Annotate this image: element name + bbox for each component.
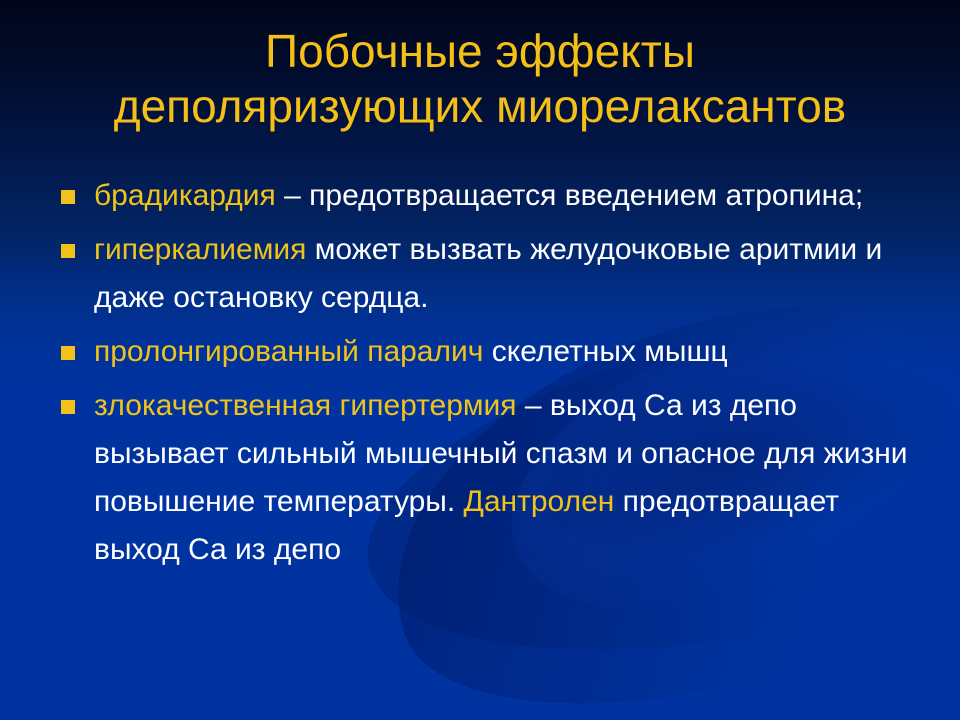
slide-canvas: Побочные эффекты деполяризующих миорелак… (0, 0, 960, 720)
highlighted-term: пролонгированный паралич (94, 335, 483, 368)
highlighted-term: брадикардия (94, 179, 276, 212)
list-item-text: брадикардия – предотвращается введением … (94, 172, 930, 220)
highlighted-term: злокачественная гипертермия (94, 389, 517, 422)
square-bullet-icon (61, 346, 75, 360)
list-item-text: гиперкалиемия может вызвать желудочковые… (94, 226, 930, 322)
square-bullet-icon (61, 400, 75, 414)
list-item: гиперкалиемия может вызвать желудочковые… (52, 226, 930, 322)
square-bullet-icon (61, 190, 75, 204)
list-item-body: скелетных мышц (483, 335, 727, 368)
highlighted-term: гиперкалиемия (94, 233, 306, 266)
highlighted-term-secondary: Дантролен (464, 485, 615, 518)
list-item-text: злокачественная гипертермия – выход Са и… (94, 382, 930, 574)
list-item: брадикардия – предотвращается введением … (52, 172, 930, 220)
list-item: злокачественная гипертермия – выход Са и… (52, 382, 930, 574)
slide-title: Побочные эффекты деполяризующих миорелак… (0, 24, 960, 134)
list-item-body: – предотвращается введением атропина; (276, 179, 863, 212)
list-item-text: пролонгированный паралич скелетных мышц (94, 328, 930, 376)
list-item: пролонгированный паралич скелетных мышц (52, 328, 930, 376)
bullet-list: брадикардия – предотвращается введением … (52, 172, 930, 580)
square-bullet-icon (61, 244, 75, 258)
